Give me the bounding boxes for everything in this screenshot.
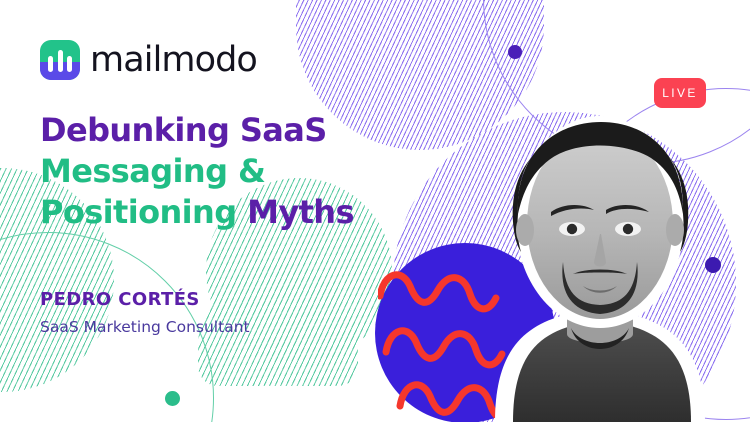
speaker-info: PEDRO CORTÉS SaaS Marketing Consultant — [40, 289, 250, 336]
live-status-badge: LIVE — [654, 78, 706, 108]
mailmodo-logo-icon — [40, 40, 80, 80]
title-line-2: Messaging & — [40, 151, 440, 192]
webinar-banner: mailmodo Debunking SaaS Messaging & Posi… — [0, 0, 750, 422]
green-dot-decoration — [165, 391, 180, 406]
speaker-name: PEDRO CORTÉS — [40, 289, 250, 310]
page-title: Debunking SaaS Messaging & Positioning M… — [40, 110, 440, 233]
title-line-1: Debunking SaaS — [40, 110, 440, 151]
speaker-portrait-photo — [455, 96, 745, 422]
title-line-3: Positioning Myths — [40, 192, 440, 233]
brand-logo[interactable]: mailmodo — [40, 40, 257, 80]
speaker-role: SaaS Marketing Consultant — [40, 318, 250, 336]
live-badge-label: LIVE — [662, 86, 698, 100]
purple-dot-decoration — [508, 45, 522, 59]
brand-name: mailmodo — [90, 40, 257, 80]
